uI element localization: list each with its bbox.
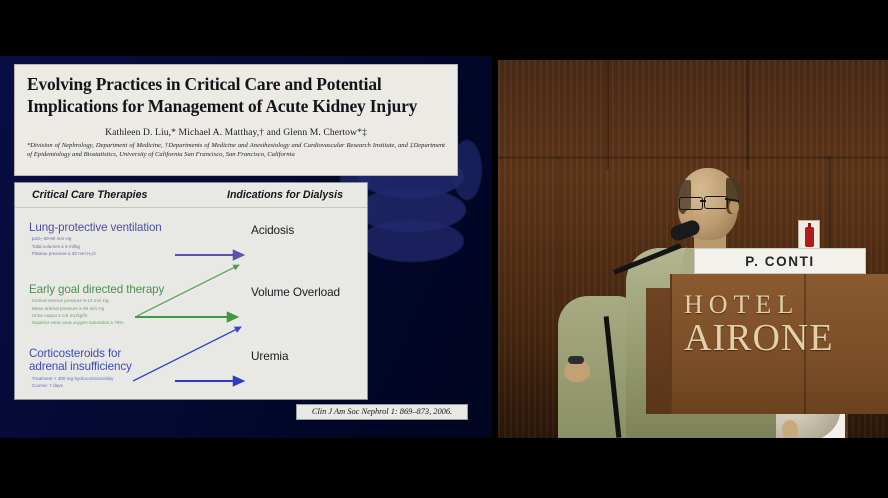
- diagram-arrows: [15, 231, 369, 423]
- speaker-nameplate: P. CONTI: [694, 248, 866, 274]
- therapies-diagram-card: Critical Care Therapies Indications for …: [14, 182, 368, 400]
- speaker-name: P. CONTI: [745, 254, 815, 269]
- arrow-egdt-to-acidosis: [137, 265, 239, 316]
- wall-seam: [606, 60, 609, 170]
- slide-title-card: Evolving Practices in Critical Care and …: [14, 64, 458, 176]
- wall-seam: [746, 60, 749, 170]
- slide-panel: Evolving Practices in Critical Care and …: [0, 56, 492, 438]
- speaker-glasses-left-lens: [679, 197, 703, 210]
- letterbox-bottom-bar: [0, 438, 888, 498]
- column-header-indications: Indications for Dialysis: [227, 189, 343, 201]
- video-top-letterbox: [498, 56, 888, 60]
- podium-side-panel: [646, 288, 672, 414]
- citation-label: Clin J Am Soc Nephrol 1: 869–873, 2006.: [296, 404, 468, 420]
- speaker-glasses-bridge: [700, 200, 706, 202]
- panel-divider: [492, 56, 498, 438]
- letterbox-top-bar: [0, 0, 888, 56]
- column-header-therapies: Critical Care Therapies: [32, 189, 147, 201]
- diagram-body: Lung-protective ventilation · paO₂ 60-80…: [15, 207, 367, 399]
- diagram-column-headers: Critical Care Therapies Indications for …: [15, 183, 367, 208]
- arrow-steroids-to-volume-overload: [133, 327, 241, 381]
- podium-logo-line2: AIRONE: [684, 319, 874, 357]
- podium-logo-line1: HOTEL: [684, 292, 874, 318]
- audience-member-ear: [782, 420, 798, 438]
- paper-authors: Kathleen D. Liu,* Michael A. Matthay,† a…: [27, 127, 445, 138]
- video-player-stage: Evolving Practices in Critical Care and …: [0, 0, 888, 498]
- speaker-video-panel: HOTEL AIRONE P. CONTI: [498, 60, 888, 438]
- speaker-ear: [729, 200, 739, 214]
- laser-pointer-icon: [568, 356, 584, 364]
- paper-title: Evolving Practices in Critical Care and …: [27, 73, 445, 118]
- podium-logo: HOTEL AIRONE: [684, 292, 874, 357]
- paper-affiliations: *Division of Nephrology, Department of M…: [27, 141, 445, 160]
